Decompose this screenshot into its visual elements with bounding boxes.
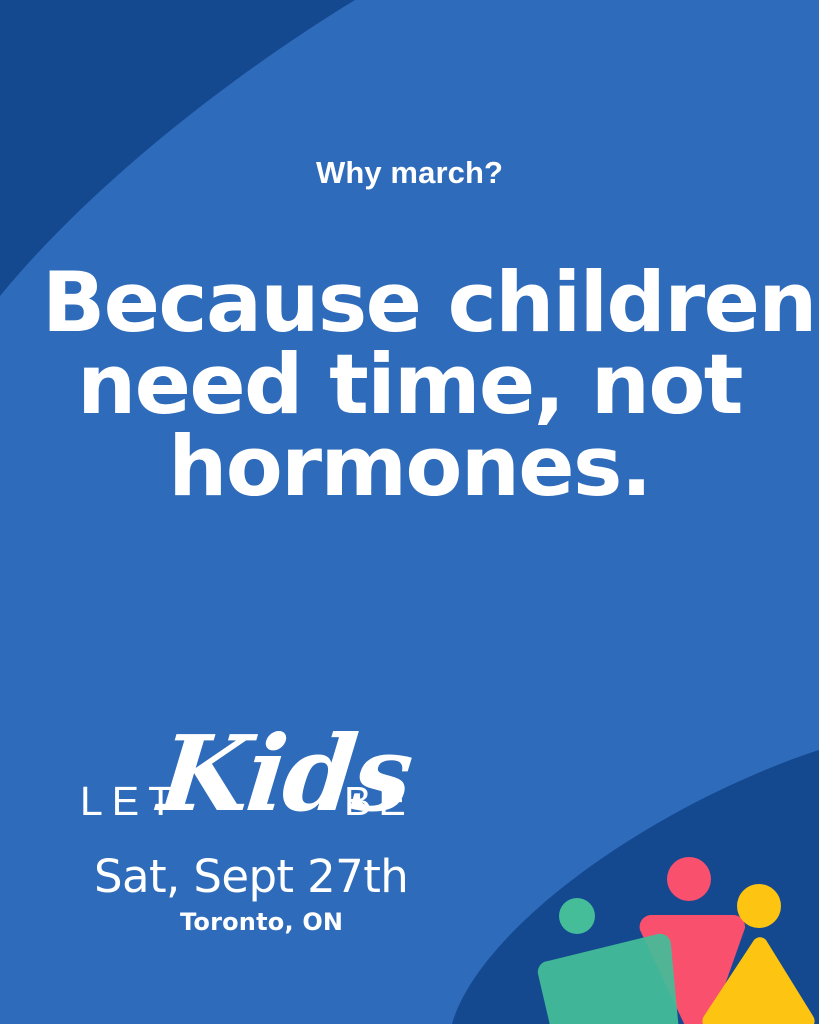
- headline-line-2: need time, not: [42, 344, 777, 426]
- logo-wordmark: LET Kids BE: [72, 726, 492, 838]
- headline-line-3: hormones.: [42, 426, 777, 508]
- logo-word-be: BE: [344, 778, 413, 825]
- people-figures-graphic: [528, 848, 819, 1024]
- event-location: Toronto, ON: [180, 908, 343, 936]
- logo-lockup: LET Kids BE Sat, Sept 27th Toronto, ON: [72, 726, 492, 956]
- headline-line-1: Because children: [42, 262, 777, 344]
- pink-figure-head: [667, 857, 711, 901]
- green-figure-body: [538, 934, 679, 1024]
- green-figure-head: [559, 898, 595, 934]
- headline: Because children need time, not hormones…: [0, 262, 819, 508]
- kicker-text: Why march?: [0, 155, 819, 191]
- event-date: Sat, Sept 27th: [94, 850, 408, 903]
- yellow-figure-head: [737, 884, 781, 928]
- poster-canvas: Why march? Because children need time, n…: [0, 0, 819, 1024]
